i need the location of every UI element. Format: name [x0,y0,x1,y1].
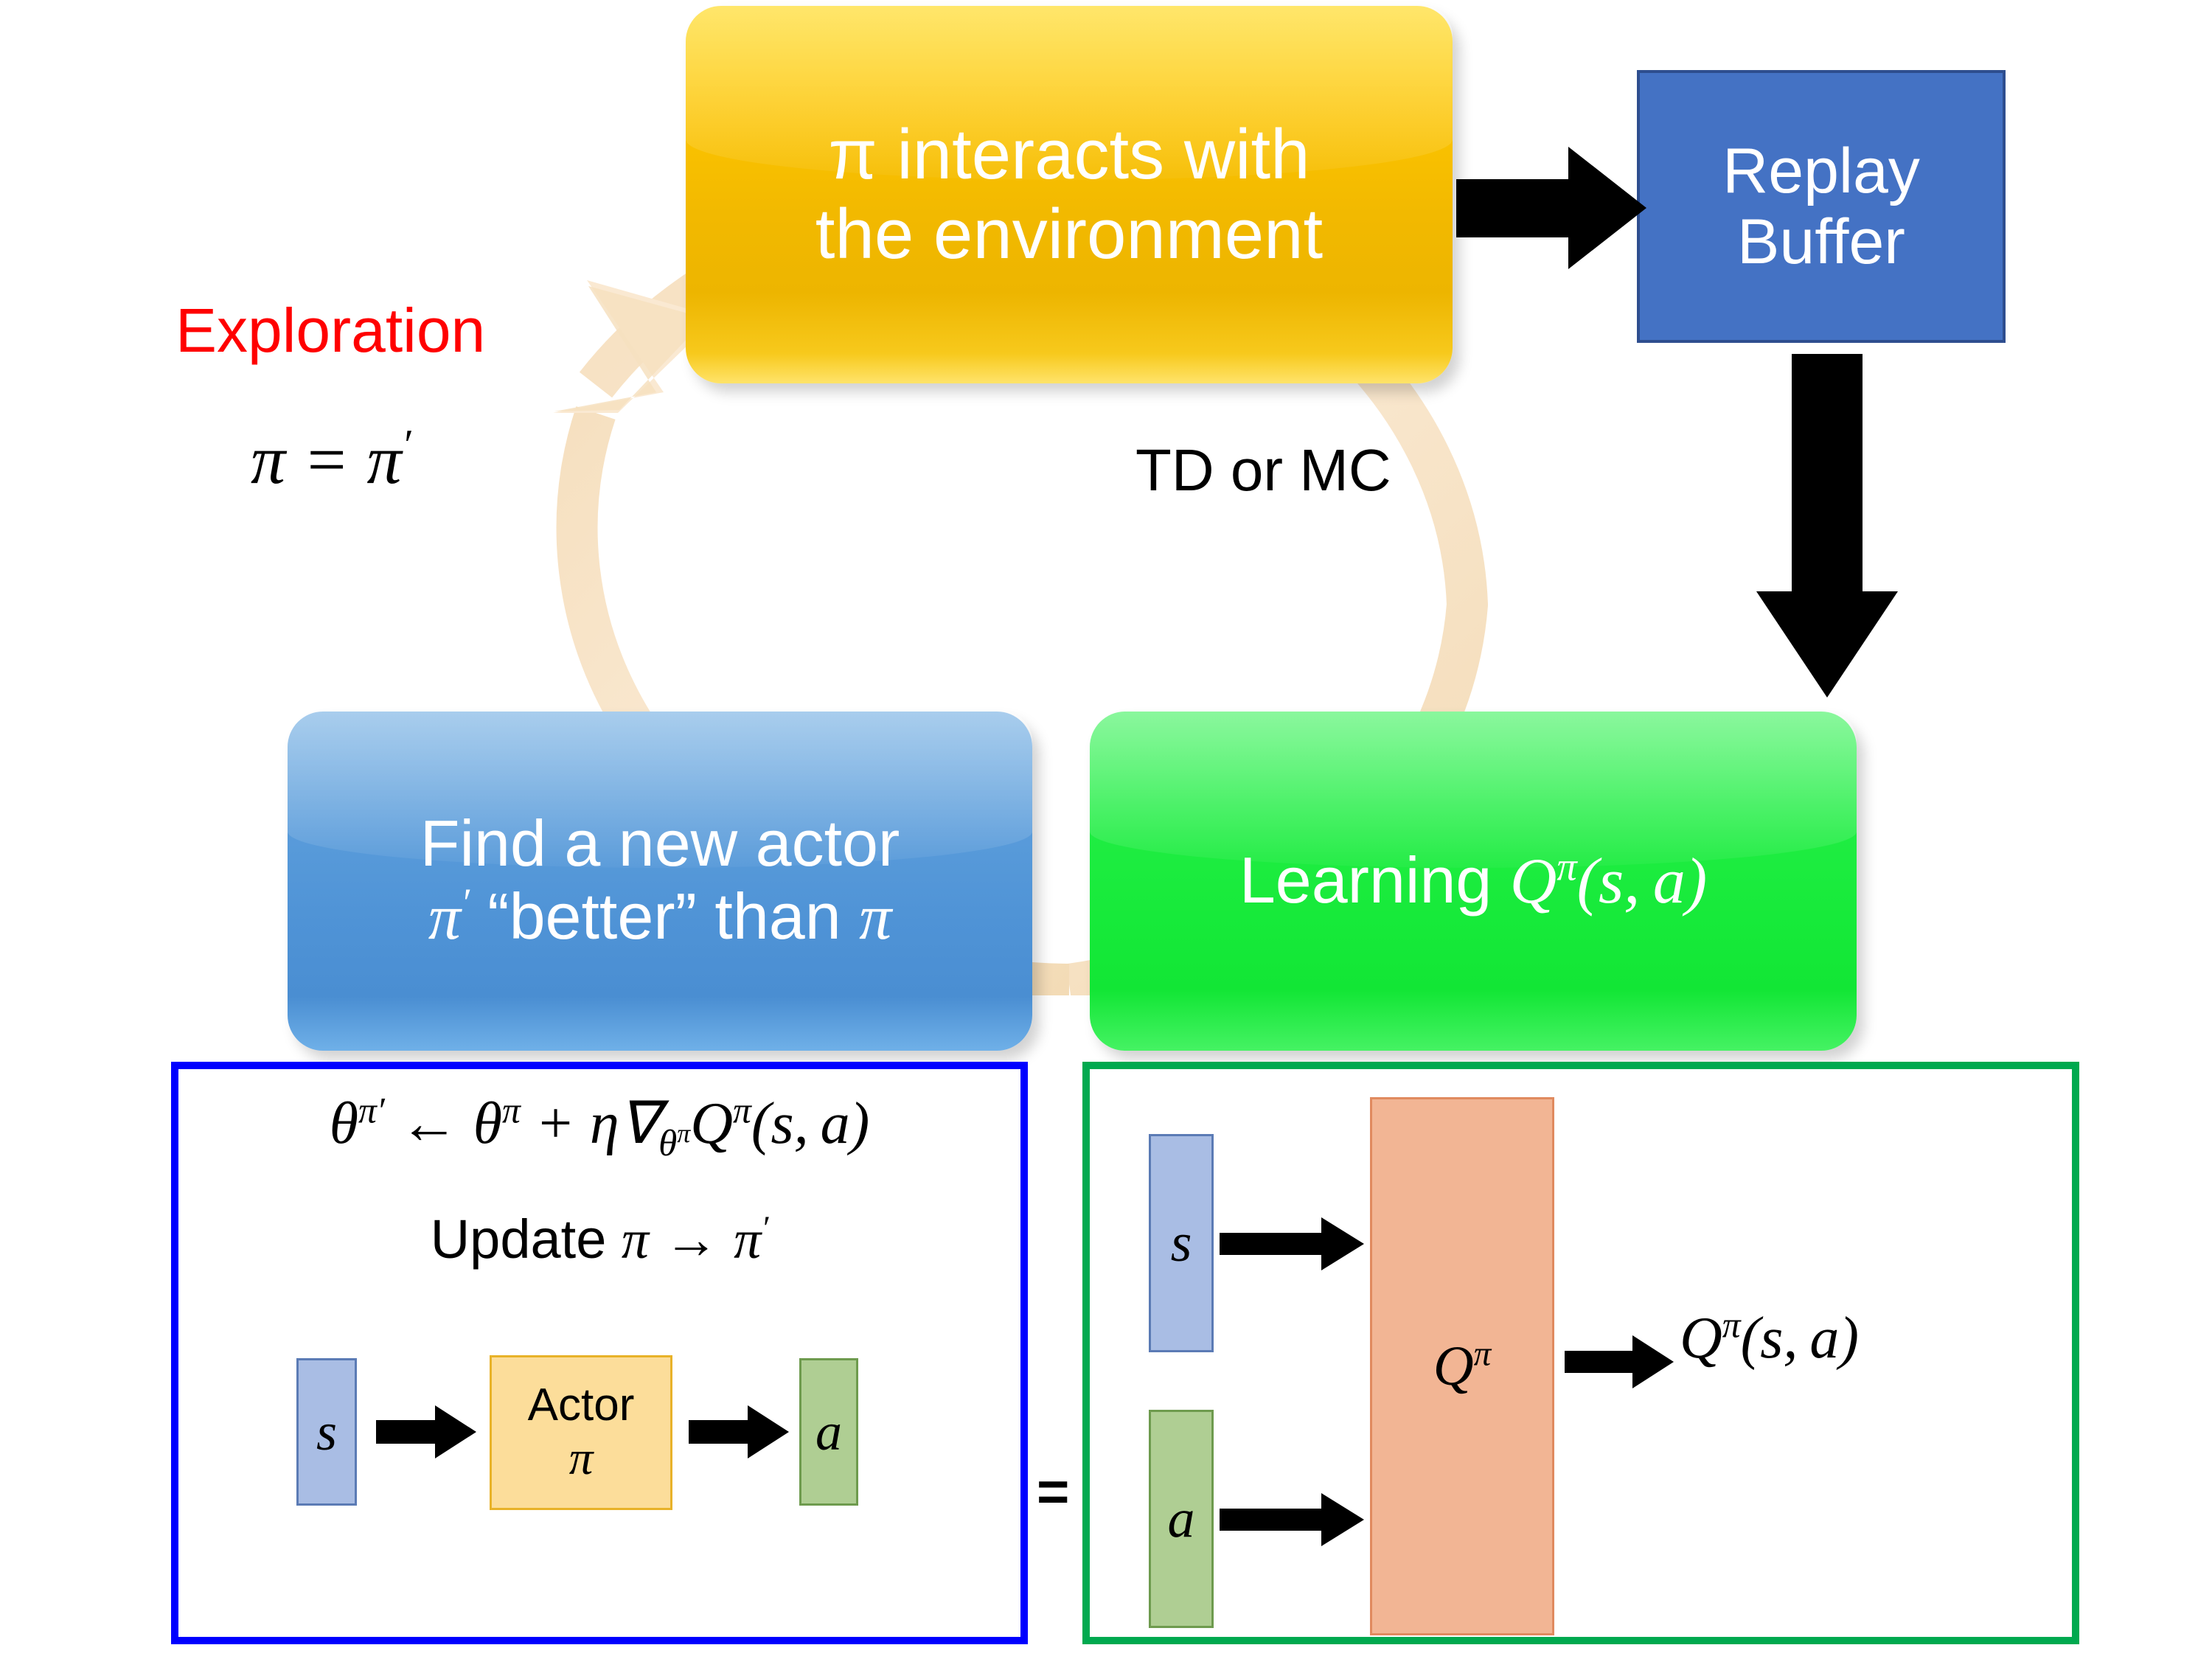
node-pi-interacts-environment[interactable]: π interacts with the environment [686,6,1453,383]
equals-sign: = [1037,1460,1069,1524]
arrow-action-to-q [1220,1491,1366,1548]
learning-q-line-1: Learning Qπ(s, a) [1109,844,1837,919]
find-actor-line-2: π′ “better” than π [307,880,1013,955]
actor-output-action: a [799,1358,858,1506]
label-exploration: Exploration [175,295,485,366]
node-learning-q[interactable]: Learning Qπ(s, a) [1090,712,1857,1051]
node-replay-buffer[interactable]: Replay Buffer [1637,70,2006,343]
arrow-state-to-actor [376,1402,478,1461]
replay-line-2: Buffer [1640,206,2003,277]
panel-critic-q-network: s a Qπ Qπ(s, a) [1082,1062,2079,1644]
interacts-line-2: the environment [705,195,1433,274]
find-actor-line-1: Find a new actor [307,807,1013,880]
critic-q-output-value: Qπ(s, a) [1680,1305,1859,1372]
node-find-new-actor[interactable]: Find a new actor π′ “better” than π [288,712,1032,1051]
critic-input-action: a [1149,1410,1214,1628]
node-label: π interacts with the environment [686,115,1453,274]
critic-q-symbol: Qπ [1433,1335,1492,1399]
formula-policy-gradient: θπ′ ← θπ + η∇θπQπ(s, a) [178,1088,1020,1158]
actor-network-block: Actor π [490,1355,672,1510]
critic-q-network-block: Qπ [1370,1097,1554,1635]
actor-policy-symbol: π [569,1431,594,1486]
arrow-replay-buffer-to-learning-q [1753,354,1901,700]
arrow-state-to-q [1220,1215,1366,1273]
diagram-canvas: π interacts with the environment Replay … [0,0,2212,1659]
label-td-or-mc: TD or MC [1135,437,1391,504]
arrow-interacts-to-replay-buffer [1456,144,1648,273]
formula-update-policy: Update π → π′ [178,1208,1020,1272]
label-pi-equals-pi-prime: π = π′ [251,420,411,500]
node-label: Learning Qπ(s, a) [1090,844,1857,919]
interacts-line-1: π interacts with [705,115,1433,195]
arrow-actor-to-action [689,1402,790,1461]
actor-input-state: s [296,1358,357,1506]
replay-line-1: Replay [1640,136,2003,206]
panel-actor-update: θπ′ ← θπ + η∇θπQπ(s, a) Update π → π′ s … [171,1062,1028,1644]
node-label: Find a new actor π′ “better” than π [288,807,1032,954]
arrow-q-to-output [1565,1333,1675,1391]
actor-network-label: Actor [528,1379,635,1431]
critic-input-state: s [1149,1134,1214,1352]
